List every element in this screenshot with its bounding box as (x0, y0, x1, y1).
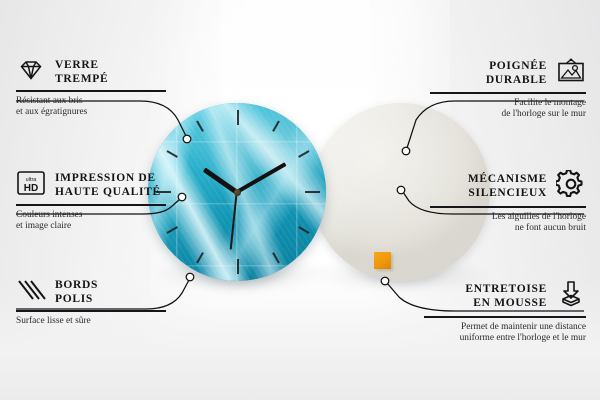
callout-title-line1: MÉCANISME (468, 173, 547, 187)
diamond-icon (16, 58, 46, 87)
foam-spacer (374, 252, 391, 269)
callout-rule (430, 92, 586, 94)
callout-subtitle: Résistant aux bris et aux égratignures (16, 96, 166, 119)
callout-subtitle: Couleurs intenses et image claire (16, 210, 166, 233)
callout-title-line1: BORDS (55, 279, 98, 293)
hands-hub (234, 189, 241, 196)
callout-verre-trempe: VERRE TREMPÉ Résistant aux bris et aux é… (16, 58, 166, 119)
callout-impression-haute-qualite: ultra HD IMPRESSION DE HAUTE QUALITÉ Cou… (16, 170, 166, 233)
callout-subtitle: Surface lisse et sûre (16, 316, 166, 328)
callout-subtitle: Les aiguilles de l'horloge ne font aucun… (430, 212, 586, 235)
callout-rule (16, 90, 166, 92)
callout-subtitle: Facilite le montage de l'horloge sur le … (430, 98, 586, 121)
callout-rule (424, 316, 586, 318)
callout-title-line1: IMPRESSION DE (55, 172, 161, 186)
tick-mark (237, 103, 239, 192)
svg-text:HD: HD (24, 183, 38, 194)
callout-bords-polis: BORDS POLIS Surface lisse et sûre (16, 278, 166, 327)
clock-front-face (148, 103, 326, 281)
callout-title-line2: TREMPÉ (55, 73, 108, 87)
callout-rule (430, 206, 586, 208)
callout-title-line2: SILENCIEUX (468, 187, 547, 201)
callout-title-line2: HAUTE QUALITÉ (55, 186, 161, 200)
callout-subtitle: Permet de maintenir une distance uniform… (424, 322, 586, 345)
callout-mecanisme-silencieux: MÉCANISME SILENCIEUX Les aiguilles de l'… (430, 170, 586, 235)
tick-mark (238, 191, 326, 193)
ultra-hd-icon: ultra HD (16, 170, 46, 201)
callout-title-line1: POIGNÉE (486, 60, 547, 74)
callout-entretoise-en-mousse: ENTRETOISE EN MOUSSE Permet de maintenir… (424, 280, 586, 345)
infographic-canvas: VERRE TREMPÉ Résistant aux bris et aux é… (0, 0, 600, 400)
callout-title-line2: DURABLE (486, 74, 547, 88)
framed-picture-icon (556, 58, 586, 89)
callout-rule (16, 204, 166, 206)
callout-title-line2: POLIS (55, 293, 98, 307)
polished-edges-icon (16, 278, 46, 307)
callout-rule (16, 310, 166, 312)
callout-poignee-durable: POIGNÉE DURABLE Facilite le montage de l… (430, 58, 586, 121)
callout-title-line1: ENTRETOISE (465, 283, 547, 297)
callout-title-line2: EN MOUSSE (465, 297, 547, 311)
gear-icon (556, 170, 586, 203)
callout-title-line1: VERRE (55, 59, 108, 73)
foam-spacer-icon (556, 280, 586, 313)
tick-mark (237, 192, 239, 281)
